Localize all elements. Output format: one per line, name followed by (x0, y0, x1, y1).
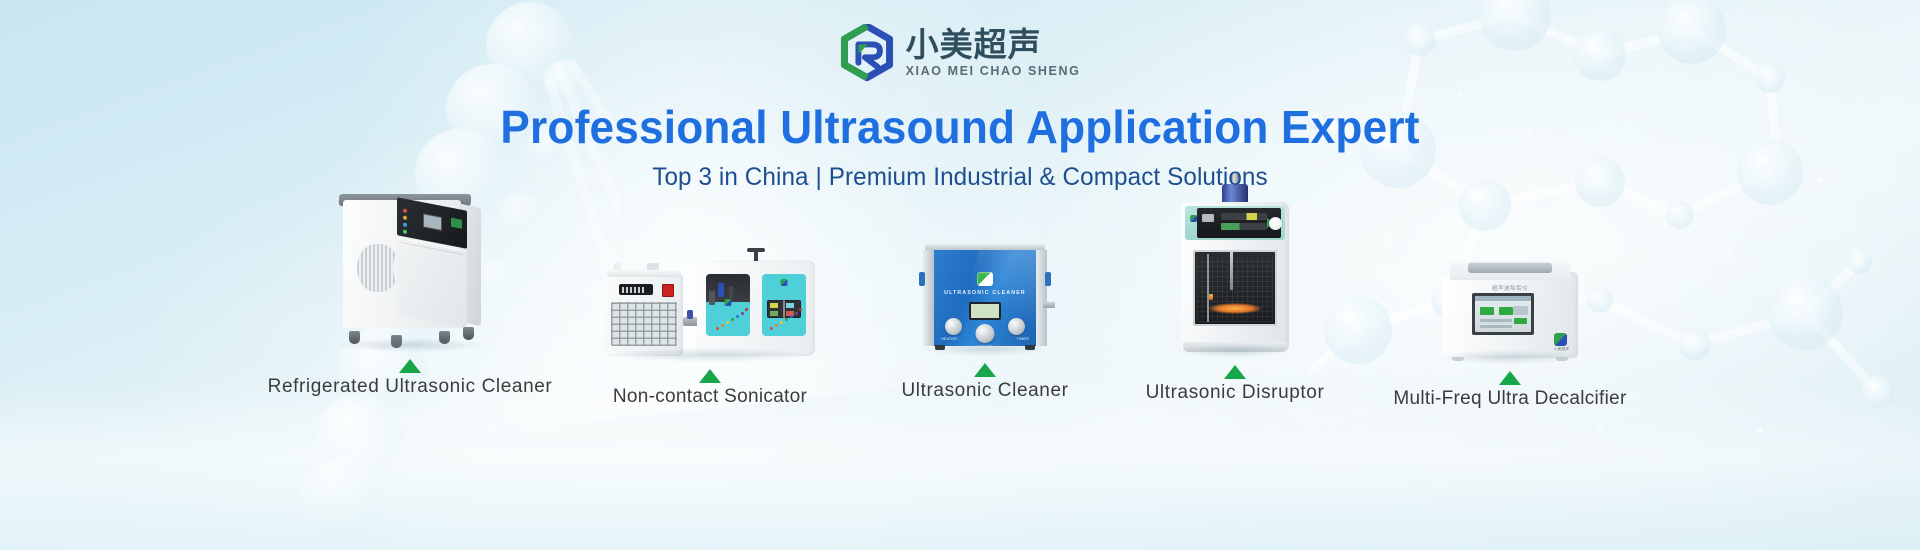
product-label: Non-contact Sonicator (613, 386, 807, 408)
device-title-text: 超声波除垢仪 (1442, 284, 1578, 292)
green-triangle-marker (399, 359, 421, 373)
product-label: Multi-Freq Ultra Decalcifier (1393, 388, 1626, 410)
product-item-ultrasonic-cleaner[interactable]: ULTRASONIC CLEANER HEATER TIMER POWER (860, 244, 1110, 550)
brand-logo[interactable]: 小美超声 XIAO MEI CHAO SHENG (0, 0, 1920, 84)
green-triangle-marker (1224, 365, 1246, 379)
refrigerated-ultrasonic-cleaner-photo (335, 186, 485, 346)
product-label: Refrigerated Ultrasonic Cleaner (268, 376, 553, 398)
product-lineup: Refrigerated Ultrasonic Cleaner (0, 220, 1920, 550)
brand-name-cn: 小美超声 (906, 28, 1042, 61)
hexagon-logo-icon (840, 24, 894, 82)
product-label: Ultrasonic Disruptor (1146, 382, 1325, 404)
ultrasonic-cleaner-photo: ULTRASONIC CLEANER HEATER TIMER POWER (923, 244, 1047, 350)
ultrasonic-disruptor-photo (1181, 184, 1289, 352)
product-item-non-contact-sonicator[interactable]: Non-contact Sonicator (560, 246, 860, 550)
green-triangle-marker (974, 363, 996, 377)
multi-freq-ultra-decalcifier-photo: 超声波除垢仪 小美超声 (1442, 260, 1578, 358)
brand-name-en: XIAO MEI CHAO SHENG (906, 65, 1081, 78)
product-item-ultrasonic-disruptor[interactable]: Ultrasonic Disruptor (1110, 184, 1360, 550)
device-brand-text: ULTRASONIC CLEANER (929, 290, 1041, 296)
page-subtitle: Top 3 in China | Premium Industrial & Co… (29, 163, 1891, 192)
hero-banner: 小美超声 XIAO MEI CHAO SHENG Professional Ul… (0, 0, 1920, 550)
product-label: Ultrasonic Cleaner (901, 380, 1068, 402)
page-title: Professional Ultrasound Application Expe… (38, 100, 1881, 154)
green-triangle-marker (1499, 371, 1521, 385)
device-logo-icon: 小美超声 (1554, 333, 1569, 349)
product-item-refrigerated-ultrasonic-cleaner[interactable]: Refrigerated Ultrasonic Cleaner (260, 186, 560, 550)
non-contact-sonicator-photo (605, 246, 815, 356)
product-item-multi-freq-ultra-decalcifier[interactable]: 超声波除垢仪 小美超声 (1360, 260, 1660, 550)
green-triangle-marker (699, 369, 721, 383)
hero-header: 小美超声 XIAO MEI CHAO SHENG Professional Ul… (0, 0, 1920, 192)
